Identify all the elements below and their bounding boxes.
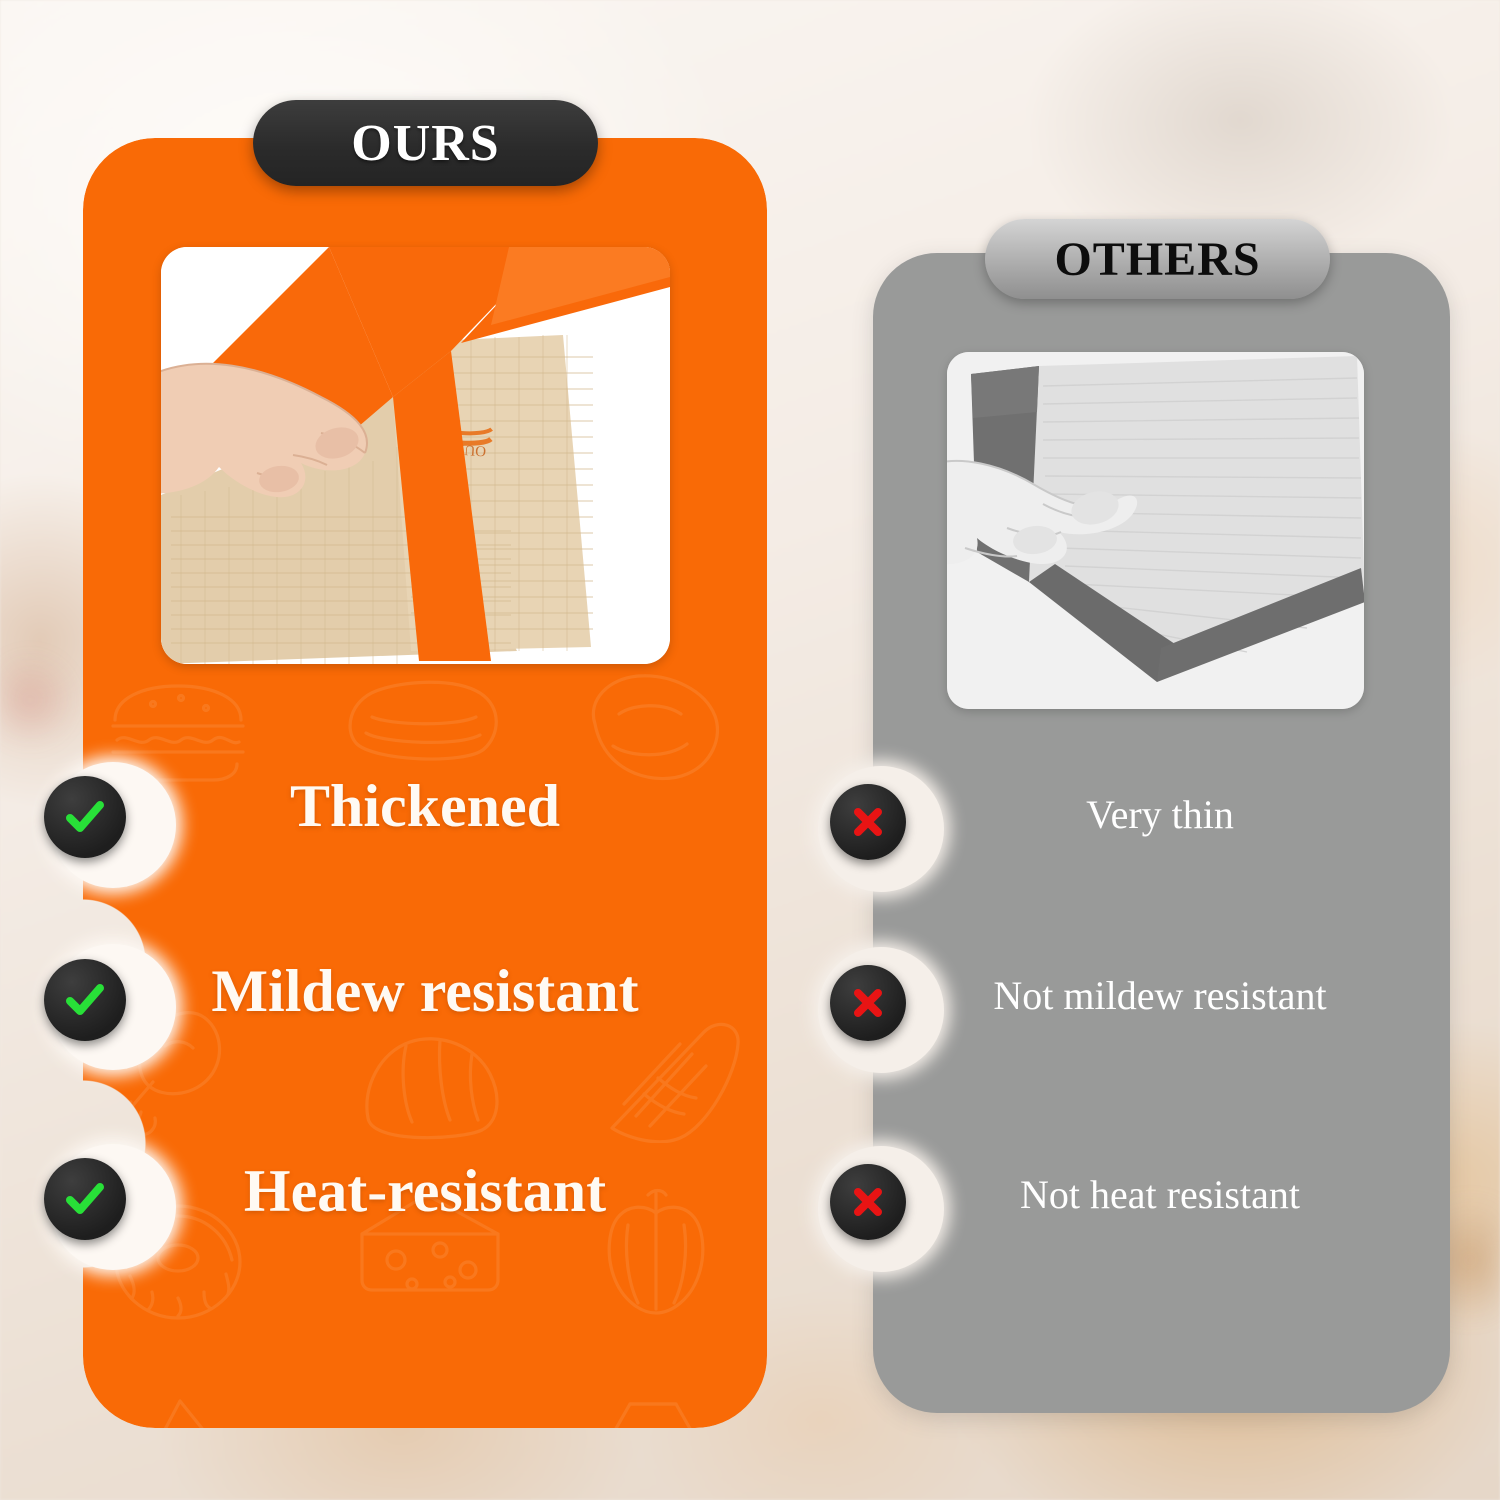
steak-icon [573, 668, 723, 788]
ours-badge-label: OURS [351, 114, 499, 173]
ours-feature-label-1: Thickened [120, 772, 730, 841]
check-icon [61, 1175, 109, 1223]
ours-badge-pill: OURS [253, 100, 598, 186]
thin-mat-illustration [947, 352, 1364, 709]
check-badge-1 [44, 776, 126, 858]
check-icon [61, 976, 109, 1024]
pizza-slice-icon [108, 1393, 253, 1428]
milk-carton-icon [588, 1388, 718, 1428]
check-badge-3 [44, 1158, 126, 1240]
salmon-icon [588, 1018, 743, 1143]
cross-badge-2 [830, 965, 906, 1041]
croissant-icon [348, 1018, 523, 1153]
ours-product-photo: OUMILI [161, 247, 670, 664]
cross-icon [848, 1182, 888, 1222]
sandwich-icon [338, 673, 498, 778]
others-badge-label: OTHERS [1054, 232, 1260, 287]
ours-feature-label-2: Mildew resistant [120, 957, 730, 1026]
cross-icon [848, 802, 888, 842]
silicone-mat-illustration: OUMILI [161, 247, 670, 664]
others-badge-pill: OTHERS [985, 219, 1330, 299]
ours-feature-label-3: Heat-resistant [120, 1157, 730, 1226]
shrimp-icon [348, 1403, 513, 1428]
others-product-photo [947, 352, 1364, 709]
cross-badge-1 [830, 784, 906, 860]
others-feature-label-2: Not mildew resistant [900, 972, 1420, 1019]
others-feature-label-3: Not heat resistant [900, 1171, 1420, 1218]
cross-badge-3 [830, 1164, 906, 1240]
others-feature-label-1: Very thin [900, 791, 1420, 838]
check-icon [61, 793, 109, 841]
cross-icon [848, 983, 888, 1023]
check-badge-2 [44, 959, 126, 1041]
